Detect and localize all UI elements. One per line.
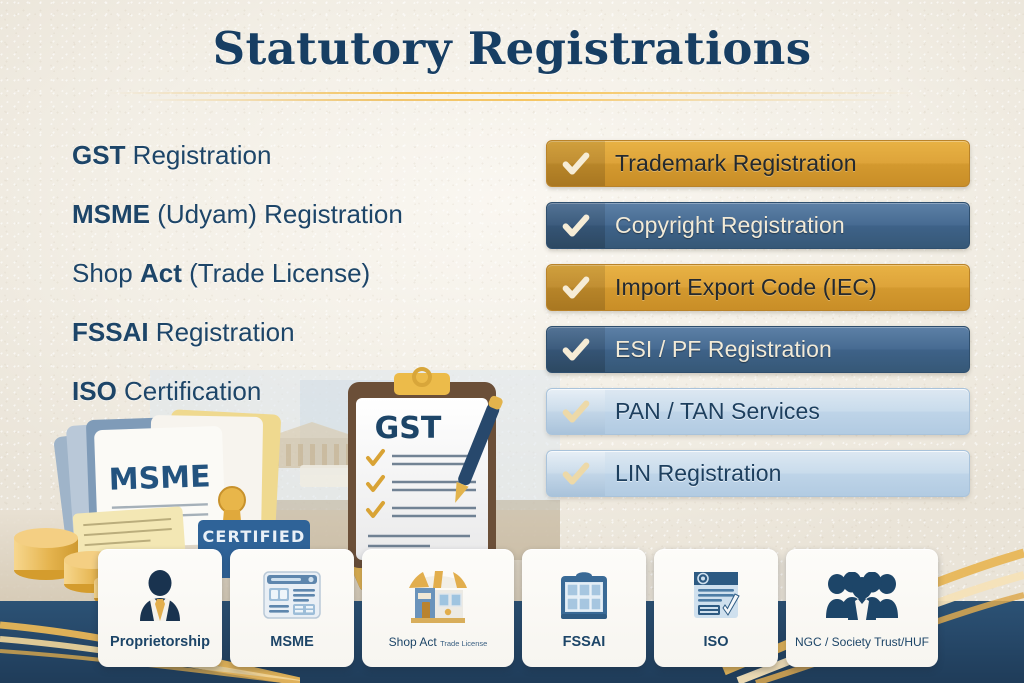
check-icon [547, 389, 605, 434]
certificate-check-icon [689, 562, 743, 628]
page-title: Statutory Registrations [0, 22, 1024, 75]
card-fssai[interactable]: FSSAI [522, 549, 646, 667]
card-label: MSME [270, 634, 314, 650]
bar-label: PAN / TAN Services [605, 398, 969, 425]
list-item-fssai-rest: Registration [149, 317, 295, 347]
card-proprietorship[interactable]: Proprietorship [98, 549, 222, 667]
list-item-shop-act: Shop Act (Trade License) [72, 260, 512, 286]
registration-text-list: GST Registration MSME (Udyam) Registrati… [72, 142, 512, 437]
gold-divider-line-bottom [140, 99, 900, 101]
bar-label: Trademark Registration [605, 150, 969, 177]
list-item-iso-strong: ISO [72, 376, 117, 406]
illustration-certificate-label: MSME [108, 459, 211, 498]
slide-canvas: Statutory Registrations [0, 0, 1024, 683]
card-ngc-society-trust-huf[interactable]: NGC / Society Trust/HUF [786, 549, 938, 667]
card-label-sub: Trade License [440, 639, 487, 648]
bar-esi-pf-registration[interactable]: ESI / PF Registration [546, 326, 970, 373]
list-item-fssai: FSSAI Registration [72, 319, 512, 345]
bar-trademark-registration[interactable]: Trademark Registration [546, 140, 970, 187]
title-block: Statutory Registrations [0, 22, 1024, 75]
card-label-main: Shop Act [389, 635, 437, 649]
list-item-msme-rest: (Udyam) Registration [150, 199, 403, 229]
bar-import-export-code[interactable]: Import Export Code (IEC) [546, 264, 970, 311]
card-shop-act[interactable]: Shop Act Trade License [362, 549, 514, 667]
list-item-gst-strong: GST [72, 140, 125, 170]
bar-label: LIN Registration [605, 460, 969, 487]
check-icon [547, 327, 605, 372]
list-item-iso-rest: Certification [117, 376, 262, 406]
illustration-certified-badge: CERTIFIED [202, 527, 305, 546]
card-msme[interactable]: MSME [230, 549, 354, 667]
card-label: Proprietorship [110, 634, 210, 650]
check-icon [547, 265, 605, 310]
card-iso[interactable]: ISO [654, 549, 778, 667]
bar-label: Import Export Code (IEC) [605, 274, 969, 301]
document-window-icon [263, 562, 321, 628]
check-icon [547, 141, 605, 186]
bar-label: Copyright Registration [605, 212, 969, 239]
bar-label: ESI / PF Registration [605, 336, 969, 363]
card-label: Shop Act Trade License [389, 635, 488, 649]
clipboard-grid-icon [557, 562, 611, 628]
list-item-msme: MSME (Udyam) Registration [72, 201, 512, 227]
card-label: FSSAI [563, 634, 606, 650]
check-icon [547, 451, 605, 496]
list-item-shop-act-strong: Act [140, 258, 182, 288]
check-icon [547, 203, 605, 248]
list-item-fssai-strong: FSSAI [72, 317, 149, 347]
list-item-msme-strong: MSME [72, 199, 150, 229]
card-label: NGC / Society Trust/HUF [795, 635, 929, 649]
list-item-gst: GST Registration [72, 142, 512, 168]
shop-storefront-icon [405, 563, 471, 629]
list-item-iso: ISO Certification [72, 378, 512, 404]
person-suit-icon [132, 562, 188, 628]
bar-pan-tan-services[interactable]: PAN / TAN Services [546, 388, 970, 435]
list-item-shop-act-suffix: (Trade License) [182, 258, 370, 288]
list-item-gst-rest: Registration [125, 140, 271, 170]
people-group-icon [825, 563, 899, 629]
entity-type-card-row: Proprietorship MSME [98, 545, 938, 667]
gold-divider-line-top [108, 92, 916, 94]
list-item-shop-act-prefix: Shop [72, 258, 140, 288]
bar-lin-registration[interactable]: LIN Registration [546, 450, 970, 497]
registration-bar-list: Trademark Registration Copyright Registr… [546, 140, 970, 512]
card-label: ISO [704, 634, 729, 650]
bar-copyright-registration[interactable]: Copyright Registration [546, 202, 970, 249]
